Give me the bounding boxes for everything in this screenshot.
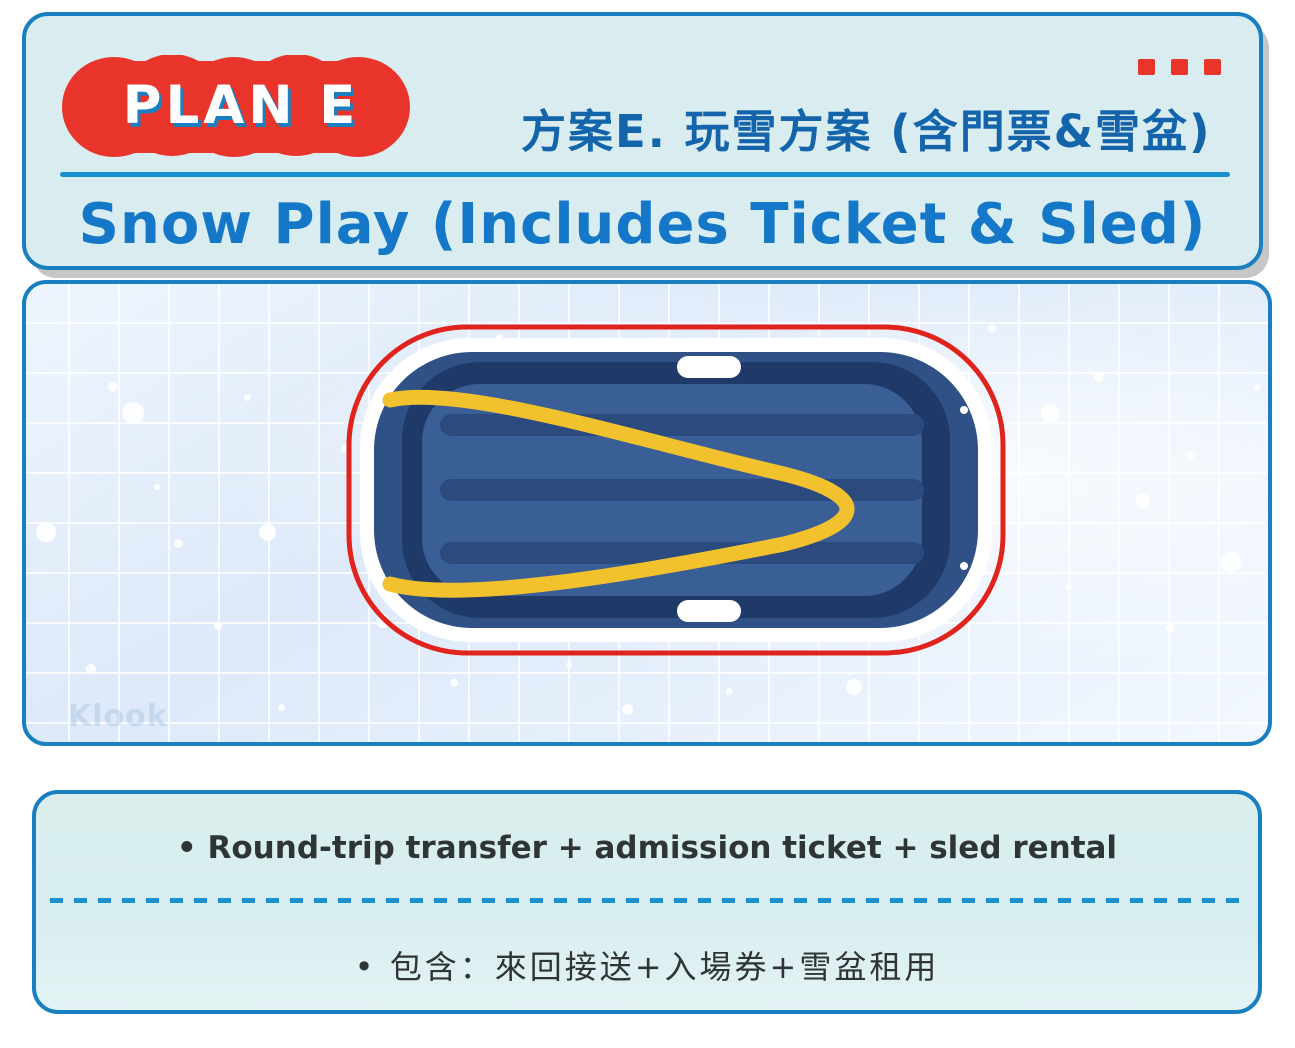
header-title-cn: 方案E. 玩雪方案 (含門票&雪盆) (521, 95, 1263, 160)
plan-badge-label: PLAN E (62, 55, 414, 159)
inclusions-divider (50, 898, 1244, 903)
watermark-klook: Klook (68, 699, 168, 734)
header-panel: PLAN E 方案E. 玩雪方案 (含門票&雪盆) Snow Play (Inc… (22, 12, 1263, 270)
product-image-panel: Klook (22, 280, 1272, 746)
red-dot-icon (1171, 59, 1188, 75)
red-dot-icon (1138, 59, 1155, 75)
red-dots-decoration (1138, 59, 1221, 75)
inclusion-line-cn: • 包含：來回接送+入場券+雪盆租用 (36, 942, 1258, 988)
header-divider (60, 172, 1230, 177)
snow-sled-icon (344, 322, 1008, 658)
inclusions-panel: • Round-trip transfer + admission ticket… (32, 790, 1262, 1014)
inclusion-line-en: • Round-trip transfer + admission ticket… (36, 830, 1258, 866)
header-title-en: Snow Play (Includes Ticket & Sled) (26, 192, 1259, 257)
plan-card-root: PLAN E 方案E. 玩雪方案 (含門票&雪盆) Snow Play (Inc… (0, 0, 1295, 1048)
red-dot-icon (1204, 59, 1221, 75)
